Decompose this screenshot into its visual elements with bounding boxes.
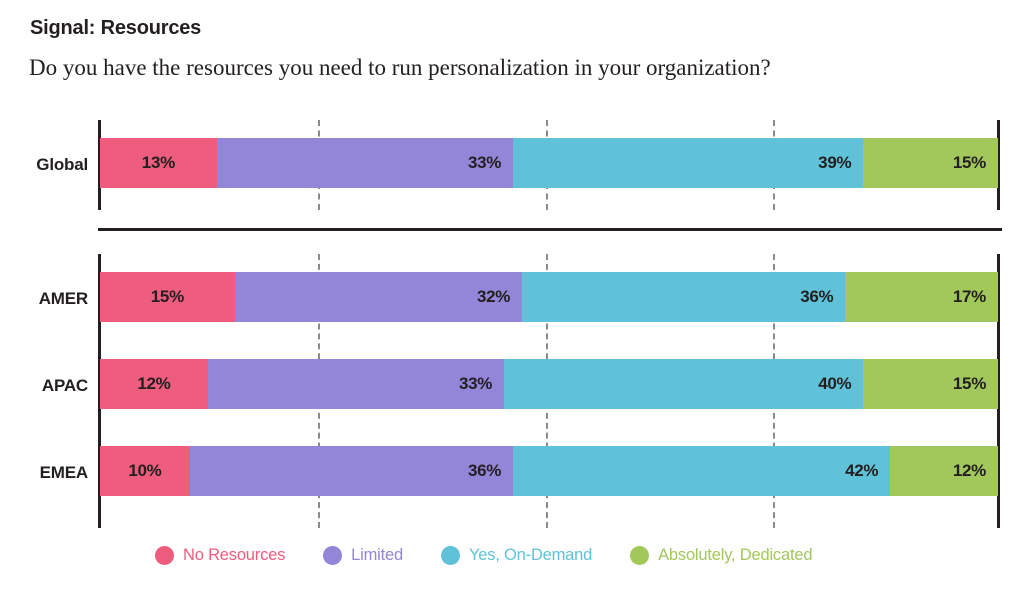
bar-row[interactable]: 12% 33% 40% 15% xyxy=(100,359,998,409)
legend-item-no-resources[interactable]: No Resources xyxy=(155,546,285,565)
chart-legend: No Resources Limited Yes, On-Demand Abso… xyxy=(155,546,812,565)
bar-segment-value: 36% xyxy=(800,287,845,307)
bar-segment-value: 42% xyxy=(845,461,890,481)
bar-segment-limited[interactable]: 33% xyxy=(217,138,513,188)
bar-segment-no-resources[interactable]: 13% xyxy=(100,138,217,188)
bar-row[interactable]: 15% 32% 36% 17% xyxy=(100,272,998,322)
bar-segment-limited[interactable]: 32% xyxy=(235,272,522,322)
bar-segment-value: 33% xyxy=(468,153,513,173)
row-label-global: Global xyxy=(0,155,88,175)
bar-segment-yes-on-demand[interactable]: 42% xyxy=(513,446,890,496)
legend-dot-icon xyxy=(155,546,174,565)
legend-dot-icon xyxy=(441,546,460,565)
bar-segment-limited[interactable]: 36% xyxy=(190,446,513,496)
page-title: Signal: Resources xyxy=(30,17,201,40)
bar-segment-value: 12% xyxy=(137,374,170,394)
row-label-apac: APAC xyxy=(0,376,88,396)
bar-segment-no-resources[interactable]: 15% xyxy=(100,272,235,322)
legend-dot-icon xyxy=(323,546,342,565)
bar-segment-limited[interactable]: 33% xyxy=(208,359,504,409)
bar-segment-absolutely-dedicated[interactable]: 15% xyxy=(863,138,998,188)
legend-label: Yes, On-Demand xyxy=(469,546,592,565)
regions-plot-area: 15% 32% 36% 17% 12% 33% 40% 15% 10% xyxy=(98,254,1000,528)
row-label-amer: AMER xyxy=(0,289,88,309)
bar-segment-value: 32% xyxy=(477,287,522,307)
bar-segment-value: 33% xyxy=(459,374,504,394)
bar-segment-value: 12% xyxy=(953,461,998,481)
bar-segment-value: 13% xyxy=(142,153,175,173)
legend-item-absolutely-dedicated[interactable]: Absolutely, Dedicated xyxy=(630,546,812,565)
bar-segment-value: 36% xyxy=(468,461,513,481)
bar-segment-yes-on-demand[interactable]: 36% xyxy=(522,272,845,322)
bar-segment-value: 15% xyxy=(953,153,998,173)
bar-segment-yes-on-demand[interactable]: 39% xyxy=(513,138,863,188)
legend-dot-icon xyxy=(630,546,649,565)
bar-segment-absolutely-dedicated[interactable]: 12% xyxy=(890,446,998,496)
row-label-emea: EMEA xyxy=(0,463,88,483)
bar-segment-yes-on-demand[interactable]: 40% xyxy=(504,359,863,409)
bar-segment-value: 15% xyxy=(953,374,998,394)
legend-label: No Resources xyxy=(183,546,285,565)
bar-segment-no-resources[interactable]: 10% xyxy=(100,446,190,496)
bar-segment-no-resources[interactable]: 12% xyxy=(100,359,208,409)
chart-subtitle: Do you have the resources you need to ru… xyxy=(29,55,771,81)
bar-row[interactable]: 13% 33% 39% 15% xyxy=(100,138,998,188)
bar-segment-absolutely-dedicated[interactable]: 15% xyxy=(863,359,998,409)
bar-row[interactable]: 10% 36% 42% 12% xyxy=(100,446,998,496)
legend-label: Limited xyxy=(351,546,403,565)
legend-item-limited[interactable]: Limited xyxy=(323,546,403,565)
bar-segment-absolutely-dedicated[interactable]: 17% xyxy=(845,272,998,322)
legend-label: Absolutely, Dedicated xyxy=(658,546,812,565)
bar-segment-value: 40% xyxy=(818,374,863,394)
global-plot-area: 13% 33% 39% 15% xyxy=(98,120,1000,210)
section-divider xyxy=(98,228,1002,231)
legend-item-yes-on-demand[interactable]: Yes, On-Demand xyxy=(441,546,592,565)
bar-segment-value: 10% xyxy=(128,461,161,481)
bar-segment-value: 39% xyxy=(818,153,863,173)
bar-segment-value: 17% xyxy=(953,287,998,307)
bar-segment-value: 15% xyxy=(151,287,184,307)
